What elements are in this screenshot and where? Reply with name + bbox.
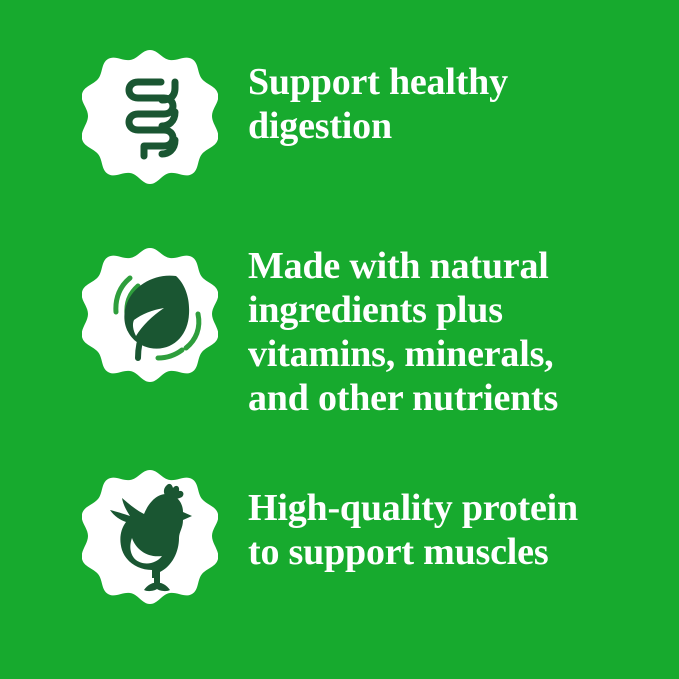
badge-digestion — [82, 42, 218, 192]
benefit-text-digestion: Support healthy digestion — [248, 60, 679, 148]
intestine-digestion-icon — [82, 42, 218, 192]
benefits-panel: Support healthy digestion — [0, 0, 679, 679]
benefit-item-digestion: Support healthy digestion — [0, 42, 679, 192]
badge-protein — [82, 462, 218, 612]
benefit-text-natural-ingredients: Made with natural ingredients plus vitam… — [248, 244, 679, 420]
benefit-text-protein: High-quality protein to support muscles — [248, 486, 679, 574]
leaf-natural-ingredients-icon — [82, 240, 218, 390]
benefit-item-natural-ingredients: Made with natural ingredients plus vitam… — [0, 240, 679, 420]
chicken-protein-icon — [82, 462, 218, 612]
badge-natural-ingredients — [82, 240, 218, 390]
benefit-item-protein: High-quality protein to support muscles — [0, 462, 679, 612]
